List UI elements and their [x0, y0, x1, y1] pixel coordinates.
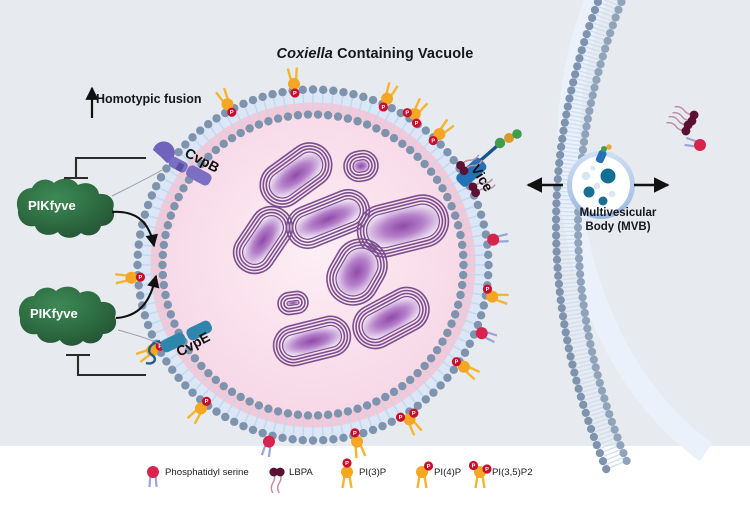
ccv-head-outer: [443, 374, 451, 382]
ccv-head-outer: [288, 435, 296, 443]
ccv-lipid-tail: [303, 420, 304, 436]
ccv-head-outer: [258, 429, 266, 437]
ccv-head-inner: [451, 211, 459, 219]
pm-head-inner: [608, 418, 616, 426]
ccv-head-inner: [324, 111, 332, 119]
ccv-head-inner: [314, 411, 322, 419]
pm-head-outer: [552, 240, 560, 248]
ccv-head-outer: [359, 93, 367, 101]
pm-head-outer: [572, 377, 580, 385]
ccv-head-outer: [278, 434, 286, 442]
ccv-head-inner: [344, 114, 352, 122]
ccv-head-inner: [447, 202, 455, 210]
vice-bead-green: [512, 129, 522, 139]
title-rest: Containing Vacuole: [333, 46, 473, 62]
pm-head-inner: [585, 107, 593, 115]
pm-head-outer: [565, 94, 573, 102]
ccv-head-outer: [278, 88, 286, 96]
ccv-head-outer: [188, 133, 196, 141]
legend-label-pi4p: PI(4)P: [434, 467, 461, 478]
ccv-head-inner: [353, 405, 361, 413]
pikfyve-lower-label: PIKfyve: [30, 306, 78, 321]
phosphate-symbol: P: [230, 110, 234, 116]
ccv-head-outer: [168, 366, 176, 374]
ccv-head-inner: [454, 301, 462, 309]
ccv-head-inner: [174, 193, 182, 201]
vice-bead-green: [495, 138, 505, 148]
ccv-head-inner: [158, 261, 166, 269]
ccv-head-inner: [427, 354, 435, 362]
pm-head-inner: [582, 122, 590, 130]
ccv-head-outer: [162, 357, 170, 365]
ccv-head-inner: [433, 346, 441, 354]
title-species: Coxiella: [277, 46, 333, 62]
ccv-head-inner: [304, 110, 312, 118]
ccv-head-outer: [388, 104, 396, 112]
pm-head-inner: [611, 426, 619, 434]
ccv-head-outer: [196, 126, 204, 134]
ccv-head-outer: [422, 395, 430, 403]
ccv-head-inner: [447, 320, 455, 328]
ccv-head-outer: [484, 271, 492, 279]
pm-head-outer: [580, 38, 588, 46]
ccv-head-inner: [170, 320, 178, 328]
ccv-head-outer: [369, 426, 377, 434]
phosphate-group: P: [342, 458, 351, 467]
legend-background: [0, 446, 750, 525]
homotypic-fusion-label: Homotypic fusion: [96, 92, 202, 106]
ccv-head-outer: [450, 366, 458, 374]
phosphate-group: P: [429, 136, 438, 145]
ccv-head-outer: [339, 88, 347, 96]
ccv-head-outer: [474, 201, 482, 209]
ccv-lipid-tail: [303, 94, 304, 110]
phosphate-group: P: [350, 428, 359, 437]
pm-head-outer: [554, 167, 562, 175]
ccv-head-outer: [144, 201, 152, 209]
ccv-head-outer: [319, 436, 327, 444]
ccv-head-inner: [420, 160, 428, 168]
ccv-head-outer: [134, 281, 142, 289]
pm-head-inner: [623, 457, 631, 465]
pm-head-outer: [570, 369, 578, 377]
ccv-head-inner: [228, 134, 236, 142]
ccv-head-inner: [164, 221, 172, 229]
ccv-head-inner: [294, 411, 302, 419]
pm-head-outer: [555, 280, 563, 288]
pm-head-inner: [619, 449, 627, 457]
ccv-head-outer: [349, 90, 357, 98]
pm-head-outer: [591, 6, 599, 14]
pm-head-outer: [562, 111, 570, 119]
ccv-head-inner: [413, 153, 421, 161]
pm-head-outer: [599, 457, 607, 465]
ccv-head-inner: [344, 407, 352, 415]
ccv-head-inner: [458, 241, 466, 249]
pm-head-outer: [579, 401, 587, 409]
pm-head-inner: [581, 130, 589, 138]
ccv-head-outer: [239, 100, 247, 108]
pm-head-outer: [587, 425, 595, 433]
mvb-label-line2: Body (MVB): [585, 221, 650, 233]
ccv-head-inner: [294, 111, 302, 119]
ccv-head-inner: [314, 110, 322, 118]
pm-head-inner: [594, 371, 602, 379]
ccv-head-outer: [299, 86, 307, 94]
ccv-head-outer: [148, 330, 156, 338]
ccv-head-outer: [258, 93, 266, 101]
pm-lipid-tail: [558, 251, 577, 252]
phosphate-symbol: P: [412, 411, 416, 417]
ccv-head-inner: [381, 393, 389, 401]
ccv-head-inner: [161, 291, 169, 299]
ccv-head-inner: [304, 411, 312, 419]
ccv-head-outer: [477, 210, 485, 218]
ccv-head-outer: [174, 374, 182, 382]
phosphate-group: P: [483, 285, 492, 294]
phosphate-symbol: P: [139, 275, 143, 281]
ccv-head-inner: [363, 120, 371, 128]
pm-head-outer: [583, 30, 591, 38]
ccv-head-inner: [372, 124, 380, 132]
pm-head-outer: [557, 296, 565, 304]
ccv-head-outer: [299, 436, 307, 444]
ccv-head-inner: [245, 397, 253, 405]
pm-head-outer: [590, 433, 598, 441]
pm-head-outer: [559, 127, 567, 135]
ccv-head-inner: [324, 411, 332, 419]
ccv-head-outer: [204, 120, 212, 128]
ccv-head-inner: [427, 168, 435, 176]
phosphate-symbol: P: [427, 464, 431, 470]
pm-head-outer: [584, 417, 592, 425]
pm-head-outer: [566, 352, 574, 360]
diagram-svg: PPPPPPPPPPPPPP: [0, 0, 750, 525]
pm-head-inner: [587, 99, 595, 107]
ccv-head-inner: [191, 354, 199, 362]
ccv-head-inner: [274, 114, 282, 122]
ccv-head-inner: [284, 409, 292, 417]
ccv-head-inner: [390, 388, 398, 396]
mvb-vesicle: [609, 191, 616, 198]
mvb-lumen: [572, 156, 630, 214]
ccv-head-inner: [458, 281, 466, 289]
ccv-head-outer: [436, 140, 444, 148]
phosphate-symbol: P: [293, 91, 297, 97]
ccv-head-outer: [148, 191, 156, 199]
pm-head-inner: [575, 262, 583, 270]
legend-label-lbpa: LBPA: [289, 467, 313, 478]
ccv-head-outer: [369, 96, 377, 104]
ccv-head-inner: [372, 397, 380, 405]
ccv-head-inner: [220, 382, 228, 390]
ccv-head-outer: [329, 435, 337, 443]
mvb-label-line1: Multivesicular: [580, 207, 657, 219]
ccv-head-inner: [167, 310, 175, 318]
ccv-head-inner: [456, 291, 464, 299]
ccv-head-outer: [477, 311, 485, 319]
pm-head-inner: [574, 247, 582, 255]
ccv-head-inner: [204, 369, 212, 377]
mvb-label: Multivesicular Body (MVB): [548, 207, 688, 234]
phosphate-symbol: P: [415, 121, 419, 127]
ccv-head-outer: [339, 434, 347, 442]
ccv-head-outer: [239, 422, 247, 430]
ccv-head-outer: [429, 388, 437, 396]
ccv-head-inner: [406, 376, 414, 384]
ccv-head-outer: [461, 349, 469, 357]
mvb-vesicle: [594, 183, 600, 189]
ccv-head-inner: [264, 405, 272, 413]
phosphate-group: P: [136, 272, 145, 281]
ccv-head-inner: [255, 401, 263, 409]
pm-head-inner: [581, 309, 589, 317]
ccv-head-inner: [161, 231, 169, 239]
pm-head-outer: [582, 409, 590, 417]
pm-head-outer: [553, 256, 561, 264]
ccv-head-inner: [284, 112, 292, 120]
ccv-head-inner: [398, 140, 406, 148]
ccv-head-inner: [433, 176, 441, 184]
ccv-head-outer: [480, 220, 488, 228]
ccv-head-inner: [170, 202, 178, 210]
ccv-head-inner: [334, 112, 342, 120]
pm-head-outer: [568, 360, 576, 368]
ccv-head-inner: [398, 382, 406, 390]
pm-head-outer: [588, 14, 596, 22]
ccv-head-outer: [188, 388, 196, 396]
ccv-head-outer: [144, 321, 152, 329]
pm-head-outer: [563, 336, 571, 344]
ccv-head-inner: [353, 117, 361, 125]
ccv-head-outer: [133, 261, 141, 269]
phosphate-group: P: [424, 461, 433, 470]
ccv-head-outer: [309, 436, 317, 444]
pm-head-inner: [580, 301, 588, 309]
ccv-head-outer: [422, 126, 430, 134]
ccv-head-outer: [212, 114, 220, 122]
phosphate-group: P: [409, 408, 418, 417]
ccv-head-outer: [249, 426, 257, 434]
pm-head-inner: [586, 340, 594, 348]
ccv-head-inner: [160, 241, 168, 249]
phosphate-group: P: [403, 108, 412, 117]
ccv-head-outer: [484, 261, 492, 269]
ccv-head-inner: [179, 184, 187, 192]
pm-head-outer: [596, 449, 604, 457]
pm-head-inner: [616, 441, 624, 449]
pm-head-outer: [554, 175, 562, 183]
ccv-head-inner: [264, 117, 272, 125]
pm-lipid-tail: [558, 247, 577, 248]
pm-head-outer: [585, 22, 593, 30]
bacterium-membrane-layer: [287, 300, 299, 306]
pm-head-outer: [555, 159, 563, 167]
ccv-head-outer: [484, 251, 492, 259]
ccv-head-inner: [443, 329, 451, 337]
ccv-head-inner: [236, 129, 244, 137]
pm-head-inner: [579, 146, 587, 154]
pm-head-inner: [582, 317, 590, 325]
ccv-head-inner: [197, 362, 205, 370]
pm-head-inner: [576, 270, 584, 278]
figure-canvas: PPPPPPPPPPPPPP: [0, 0, 750, 525]
ccv-head-outer: [157, 173, 165, 181]
ccv-head-inner: [459, 261, 467, 269]
mvb-vesicle: [584, 187, 595, 198]
ccv-head-inner: [451, 310, 459, 318]
pm-head-outer: [571, 70, 579, 78]
phosphate-symbol: P: [472, 463, 476, 469]
phosphate-group: P: [379, 102, 388, 111]
phosphate-symbol: P: [381, 105, 385, 111]
pm-head-inner: [605, 410, 613, 418]
phosphate-group: P: [290, 88, 299, 97]
pm-head-inner: [580, 138, 588, 146]
pm-lipid-tail: [558, 243, 577, 244]
pm-head-inner: [614, 6, 622, 14]
pm-head-inner: [577, 278, 585, 286]
pm-lipid-tail: [558, 255, 577, 256]
ccv-head-inner: [159, 271, 167, 279]
pm-head-inner: [584, 115, 592, 123]
phosphate-symbol: P: [485, 467, 489, 473]
pm-head-inner: [604, 37, 612, 45]
ccv-head-outer: [450, 156, 458, 164]
phosphate-group: P: [202, 397, 211, 406]
phosphate-symbol: P: [431, 138, 435, 144]
pm-head-inner: [613, 433, 621, 441]
pm-head-outer: [602, 465, 610, 473]
ccv-head-outer: [152, 182, 160, 190]
ccv-head-outer: [359, 429, 367, 437]
ccv-lipid-tail: [322, 94, 323, 110]
pm-head-outer: [554, 272, 562, 280]
pm-head-inner: [606, 29, 614, 37]
phosphate-group: P: [227, 108, 236, 117]
ccv-head-inner: [413, 369, 421, 377]
pm-head-outer: [553, 248, 561, 256]
ccv-head-inner: [274, 407, 282, 415]
mvb-vesicle: [582, 172, 590, 180]
ccv-head-inner: [236, 393, 244, 401]
ccv-head-outer: [134, 240, 142, 248]
ccv-head-inner: [160, 281, 168, 289]
pm-head-outer: [553, 191, 561, 199]
ccv-head-outer: [134, 251, 142, 259]
page-title: Coxiella Containing Vacuole: [0, 46, 750, 62]
pm-head-inner: [612, 13, 620, 21]
pm-head-inner: [590, 84, 598, 92]
ccv-head-inner: [420, 362, 428, 370]
phosphate-symbol: P: [486, 287, 490, 293]
ccv-head-inner: [438, 184, 446, 192]
ccv-head-inner: [406, 146, 414, 154]
ccv-head-inner: [334, 409, 342, 417]
ccv-head-outer: [136, 291, 144, 299]
pm-head-inner: [578, 286, 586, 294]
phosphate-group: P: [452, 357, 461, 366]
mvb-bead-orange: [606, 144, 611, 149]
pm-head-inner: [609, 21, 617, 29]
pm-head-outer: [560, 320, 568, 328]
pm-head-inner: [603, 402, 611, 410]
pm-head-inner: [574, 239, 582, 247]
ccv-lipid-tail: [468, 274, 484, 275]
pm-head-outer: [565, 344, 573, 352]
ccv-head-inner: [167, 211, 175, 219]
ccv-head-outer: [174, 148, 182, 156]
ccv-lipid-tail: [322, 420, 323, 436]
ccv-head-inner: [390, 134, 398, 142]
pm-head-inner: [590, 355, 598, 363]
pm-head-inner: [578, 293, 586, 301]
ccv-head-outer: [268, 90, 276, 98]
ccv-head-inner: [212, 146, 220, 154]
ccv-head-inner: [220, 140, 228, 148]
ccv-head-inner: [228, 388, 236, 396]
phosphate-symbol: P: [455, 360, 459, 366]
pm-head-outer: [557, 143, 565, 151]
pm-head-inner: [589, 91, 597, 99]
pm-head-outer: [558, 304, 566, 312]
ccv-head-inner: [159, 251, 167, 259]
ccv-head-outer: [388, 418, 396, 426]
mvb-vesicle: [590, 165, 595, 170]
ccv-lipid-tail: [142, 274, 158, 275]
pm-head-outer: [567, 86, 575, 94]
phosphate-group: P: [469, 461, 478, 470]
lipid-head: [276, 468, 285, 477]
pm-head-outer: [561, 119, 569, 127]
ccv-head-outer: [136, 230, 144, 238]
pm-head-inner: [598, 387, 606, 395]
ccv-head-inner: [245, 124, 253, 132]
pm-head-outer: [562, 328, 570, 336]
ccv-head-inner: [438, 337, 446, 345]
ccv-head-outer: [141, 311, 149, 319]
mvb-vesicle: [599, 197, 608, 206]
pikfyve-upper-label: PIKfyve: [28, 198, 76, 213]
pm-head-outer: [556, 151, 564, 159]
pm-head-outer: [574, 385, 582, 393]
pm-head-inner: [575, 254, 583, 262]
ccv-head-outer: [480, 301, 488, 309]
pm-head-inner: [600, 394, 608, 402]
pm-head-outer: [564, 102, 572, 110]
pm-head-outer: [556, 288, 564, 296]
ccv-head-outer: [212, 407, 220, 415]
pm-head-inner: [588, 348, 596, 356]
ccv-head-inner: [363, 401, 371, 409]
ccv-head-inner: [454, 221, 462, 229]
ccv-head-inner: [459, 271, 467, 279]
phosphate-symbol: P: [205, 399, 209, 405]
pm-head-inner: [596, 379, 604, 387]
phosphate-symbol: P: [353, 431, 357, 437]
ccv-head-inner: [381, 129, 389, 137]
ccv-head-inner: [164, 301, 172, 309]
ccv-head-outer: [443, 148, 451, 156]
pm-head-inner: [583, 324, 591, 332]
legend-label-phosphatidyl-serine: Phosphatidyl serine: [165, 467, 249, 478]
mvb-vesicle: [601, 169, 616, 184]
ccv-head-outer: [319, 86, 327, 94]
phosphate-symbol: P: [345, 461, 349, 467]
ccv-head-inner: [443, 193, 451, 201]
pm-head-outer: [553, 264, 561, 272]
ccv-head-outer: [466, 340, 474, 348]
